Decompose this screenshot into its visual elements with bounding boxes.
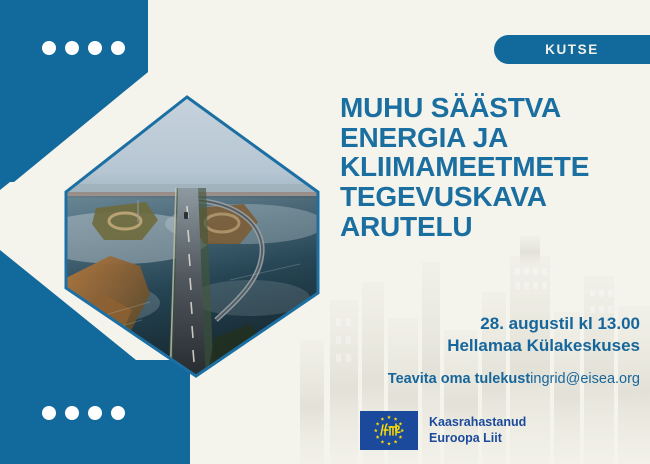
rsvp-prompt: Teavita oma tulekust xyxy=(388,371,530,387)
rsvp-email[interactable]: ingrid@eisea.org xyxy=(530,371,640,387)
dot xyxy=(42,41,56,55)
headline-line-5: ARUTELU xyxy=(340,212,640,242)
dot xyxy=(88,406,102,420)
rsvp-line: Teavita oma tulekustingrid@eisea.org xyxy=(340,371,640,387)
dot xyxy=(65,406,79,420)
poster-canvas: KUTSE MUHU SÄÄSTVA ENERGIA JA KLIIMAMEET… xyxy=(0,0,650,464)
dot xyxy=(42,406,56,420)
hero-photo xyxy=(0,88,330,384)
dot xyxy=(65,41,79,55)
headline-line-1: MUHU SÄÄSTVA xyxy=(340,93,640,123)
hero-photo-hexagon xyxy=(0,88,330,384)
decor-dots-top xyxy=(42,41,125,55)
eu-logo-text: Kaasrahastanud Euroopa Liit xyxy=(429,415,526,446)
headline-line-4: TEGEVUSKAVA xyxy=(340,182,640,212)
decor-dots-bottom xyxy=(42,406,125,420)
eu-cofunding-logo: Kaasrahastanud Euroopa Liit xyxy=(360,411,526,450)
headline-line-3: KLIIMAMEETMETE xyxy=(340,152,640,182)
eu-flag-icon xyxy=(360,411,418,450)
event-date-time: 28. augustil kl 13.00 xyxy=(340,313,640,335)
headline-line-2: ENERGIA JA xyxy=(340,123,640,153)
eu-logo-line-2: Euroopa Liit xyxy=(429,431,526,447)
event-details: 28. augustil kl 13.00 Hellamaa Külakesku… xyxy=(340,313,640,358)
dot xyxy=(111,406,125,420)
kutse-badge-label: KUTSE xyxy=(545,43,599,57)
kutse-badge: KUTSE xyxy=(494,35,650,64)
page-title: MUHU SÄÄSTVA ENERGIA JA KLIIMAMEETMETE T… xyxy=(340,93,640,241)
event-venue: Hellamaa Külakeskuses xyxy=(340,335,640,357)
dot xyxy=(111,41,125,55)
dot xyxy=(88,41,102,55)
eu-logo-line-1: Kaasrahastanud xyxy=(429,415,526,431)
